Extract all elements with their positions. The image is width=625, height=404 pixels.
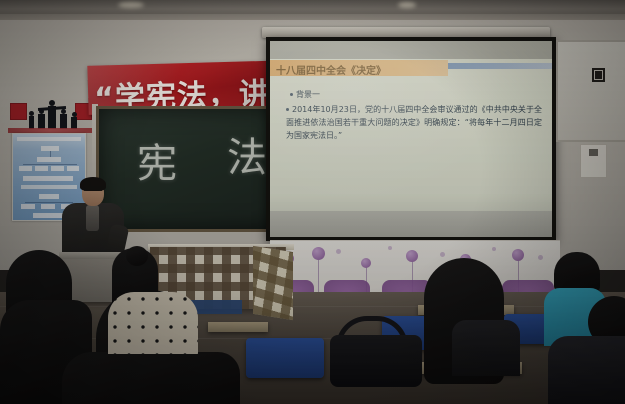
slide-title: 十八届四中全会《决定》 <box>276 62 386 77</box>
wall-sign-icon <box>592 68 605 82</box>
chart-node <box>39 194 59 199</box>
chart-node <box>37 157 61 162</box>
student-shoulders-far-right <box>548 336 625 404</box>
student-dark-coat-right <box>452 320 520 376</box>
chalk-character-right: 法 <box>227 125 267 183</box>
chart-node <box>41 204 55 209</box>
red-square-left <box>10 103 27 120</box>
chart-node <box>19 166 32 171</box>
floor-line <box>0 306 625 307</box>
projector-screen: 十八届四中全会《决定》 背景一 2014年10月23日，党的十八届四中全会审议通… <box>266 37 556 241</box>
presenter-shirt <box>86 205 99 231</box>
presenter-glasses-icon <box>84 190 102 195</box>
right-whiteboard <box>556 40 625 142</box>
floral-speck <box>440 252 445 257</box>
wall-notice-paper <box>580 144 607 178</box>
chart-section-title <box>21 185 77 189</box>
silhouette-body <box>60 114 67 129</box>
bullet-dot-icon <box>286 108 289 111</box>
floral-ball <box>312 247 325 260</box>
blackboard: 宪 法 <box>96 106 282 232</box>
student-shoulders-center-left <box>62 352 240 404</box>
chalk-character-left: 宪 <box>137 131 177 189</box>
slide-accent-bar <box>448 63 552 69</box>
floral-speck <box>336 249 341 254</box>
purple-dandelion-wall-panel <box>270 240 560 296</box>
chart-footer-node <box>33 213 65 218</box>
chart-link <box>23 164 77 165</box>
silhouette-body <box>38 114 45 129</box>
slide-bullet-1: 背景一 <box>290 89 320 100</box>
slide-bottom-shadow <box>270 211 552 237</box>
chart-link <box>25 202 73 203</box>
chart-node <box>67 166 79 171</box>
tablecloth-drape <box>253 246 293 320</box>
student-polkadot-top <box>108 292 198 354</box>
student-hair-bun <box>126 246 148 266</box>
poster-title-bar <box>17 137 81 141</box>
floral-speck <box>492 247 496 251</box>
student-desk <box>208 322 268 332</box>
people-silhouette-poster <box>6 97 94 133</box>
floral-ball <box>406 250 418 262</box>
floral-ball <box>512 249 524 261</box>
floral-ball <box>361 258 371 268</box>
bullet-dot-icon <box>290 93 293 96</box>
floral-speck <box>538 255 543 260</box>
ceiling <box>0 0 625 22</box>
chart-node <box>21 204 35 209</box>
chart-node <box>35 166 48 171</box>
backpack <box>330 335 422 387</box>
blue-chair <box>246 338 324 378</box>
presentation-slide: 十八届四中全会《决定》 背景一 2014年10月23日，党的十八届四中全会审议通… <box>270 41 552 237</box>
slide-bullet-2: 2014年10月23日，党的十八届四中全会审议通过的《中共中央关于全面推进依法治… <box>286 103 542 142</box>
floral-speck <box>388 246 392 250</box>
slide-bullet-2-text: 2014年10月23日，党的十八届四中全会审议通过的《中共中央关于全面推进依法治… <box>286 105 542 140</box>
ceiling-lamp <box>398 2 416 8</box>
notice-mark <box>589 149 598 156</box>
slide-bullet-1-text: 背景一 <box>296 90 320 99</box>
presenter-hair <box>80 177 106 191</box>
ceiling-lamp <box>118 2 144 8</box>
chart-node <box>51 166 64 171</box>
classroom-photo-scene: “学宪法，讲 学宣 宣 宪 法 十八届四中全会《决定》 背景一 2014年10月… <box>0 0 625 404</box>
chart-wide-node <box>23 176 73 181</box>
